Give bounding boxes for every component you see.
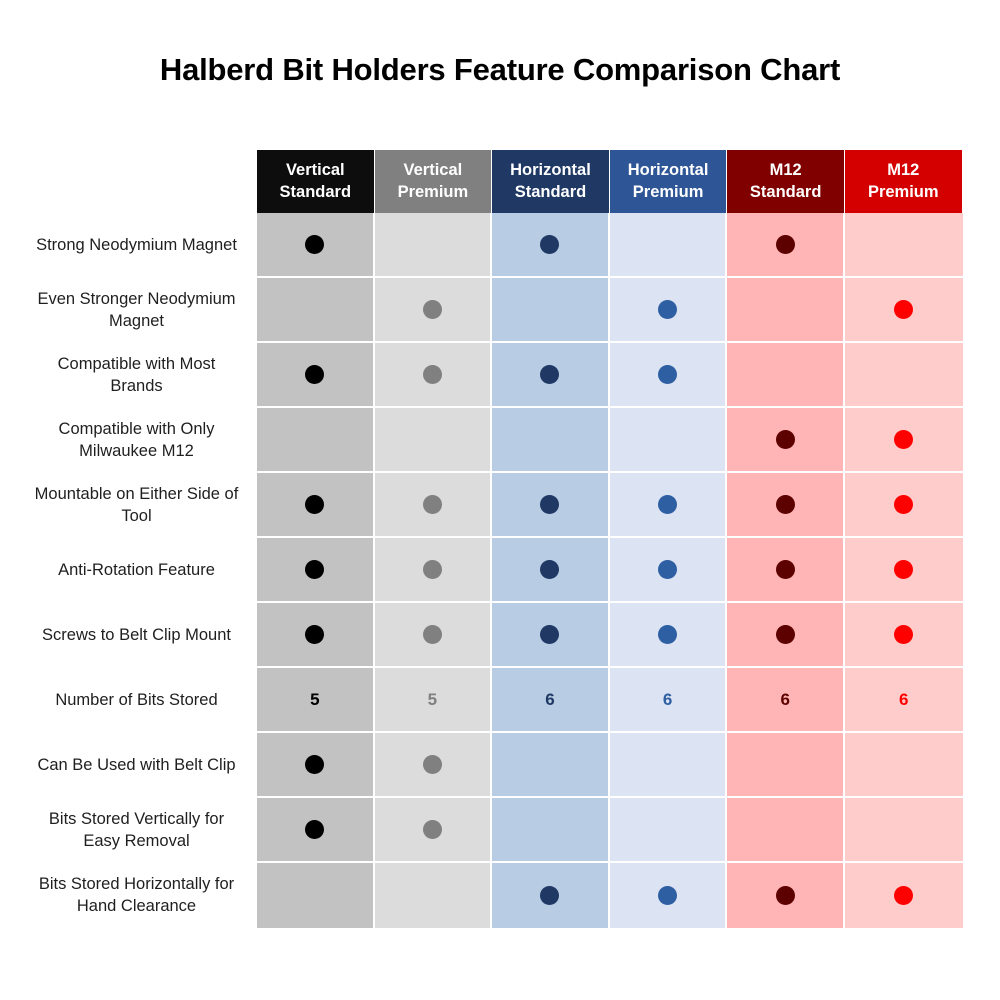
cell-number-of-bits-stored-vertical-standard[interactable]: 5: [257, 668, 375, 733]
row-label-mountable-on-either-side-of-tool: Mountable on Either Side of Tool: [30, 473, 257, 538]
feature-supported-dot-icon: [776, 235, 795, 254]
cell-strong-neodymium-magnet-horizontal-standard[interactable]: [492, 213, 610, 278]
cell-compatible-with-only-milwaukee-m12-horizontal-standard[interactable]: [492, 408, 610, 473]
feature-supported-dot-icon: [658, 560, 677, 579]
column-header-m12-standard[interactable]: M12Standard: [727, 150, 845, 213]
cell-bits-stored-vertically-for-easy-removal-horizontal-premium[interactable]: [610, 798, 728, 863]
feature-supported-dot-icon: [658, 365, 677, 384]
cell-mountable-on-either-side-of-tool-horizontal-premium[interactable]: [610, 473, 728, 538]
cell-bits-stored-horizontally-for-hand-clearance-vertical-standard[interactable]: [257, 863, 375, 928]
column-header-line1: M12: [770, 160, 802, 182]
feature-supported-dot-icon: [305, 365, 324, 384]
cell-bits-stored-vertically-for-easy-removal-horizontal-standard[interactable]: [492, 798, 610, 863]
feature-supported-dot-icon: [305, 820, 324, 839]
feature-supported-dot-icon: [423, 820, 442, 839]
cell-screws-to-belt-clip-mount-vertical-standard[interactable]: [257, 603, 375, 668]
cell-bits-stored-horizontally-for-hand-clearance-m12-premium[interactable]: [845, 863, 963, 928]
row-label-even-stronger-neodymium-magnet: Even Stronger Neodymium Magnet: [30, 278, 257, 343]
cell-can-be-used-with-belt-clip-m12-standard[interactable]: [727, 733, 845, 798]
cell-screws-to-belt-clip-mount-m12-standard[interactable]: [727, 603, 845, 668]
cell-bits-stored-horizontally-for-hand-clearance-horizontal-premium[interactable]: [610, 863, 728, 928]
feature-supported-dot-icon: [776, 560, 795, 579]
row-label-can-be-used-with-belt-clip: Can Be Used with Belt Clip: [30, 733, 257, 798]
feature-supported-dot-icon: [894, 886, 913, 905]
feature-supported-dot-icon: [894, 495, 913, 514]
cell-number-of-bits-stored-horizontal-standard[interactable]: 6: [492, 668, 610, 733]
cell-compatible-with-only-milwaukee-m12-vertical-premium[interactable]: [375, 408, 493, 473]
feature-supported-dot-icon: [423, 625, 442, 644]
column-header-line2: Premium: [633, 182, 704, 204]
column-header-line2: Standard: [750, 182, 822, 204]
row-label-text: Can Be Used with Belt Clip: [30, 755, 243, 776]
row-label-bits-stored-vertically-for-easy-removal: Bits Stored Vertically for Easy Removal: [30, 798, 257, 863]
feature-supported-dot-icon: [540, 560, 559, 579]
feature-supported-dot-icon: [776, 430, 795, 449]
cell-value: 5: [310, 691, 319, 708]
cell-strong-neodymium-magnet-m12-premium[interactable]: [845, 213, 963, 278]
row-label-bits-stored-horizontally-for-hand-clearance: Bits Stored Horizontally for Hand Cleara…: [30, 863, 257, 928]
cell-anti-rotation-feature-m12-premium[interactable]: [845, 538, 963, 603]
row-label-screws-to-belt-clip-mount: Screws to Belt Clip Mount: [30, 603, 257, 668]
row-label-compatible-with-only-milwaukee-m12: Compatible with Only Milwaukee M12: [30, 408, 257, 473]
row-label-compatible-with-most-brands: Compatible with Most Brands: [30, 343, 257, 408]
feature-supported-dot-icon: [658, 495, 677, 514]
feature-supported-dot-icon: [423, 300, 442, 319]
cell-number-of-bits-stored-vertical-premium[interactable]: 5: [375, 668, 493, 733]
column-header-vertical-standard[interactable]: VerticalStandard: [257, 150, 375, 213]
column-header-line1: Horizontal: [628, 160, 709, 182]
feature-supported-dot-icon: [305, 495, 324, 514]
cell-mountable-on-either-side-of-tool-vertical-standard[interactable]: [257, 473, 375, 538]
cell-screws-to-belt-clip-mount-m12-premium[interactable]: [845, 603, 963, 668]
table-corner-cell: [30, 150, 257, 213]
cell-compatible-with-most-brands-horizontal-standard[interactable]: [492, 343, 610, 408]
cell-compatible-with-only-milwaukee-m12-vertical-standard[interactable]: [257, 408, 375, 473]
cell-can-be-used-with-belt-clip-horizontal-standard[interactable]: [492, 733, 610, 798]
row-label-text: Compatible with Only Milwaukee M12: [30, 419, 243, 461]
feature-supported-dot-icon: [305, 755, 324, 774]
cell-strong-neodymium-magnet-vertical-premium[interactable]: [375, 213, 493, 278]
column-header-vertical-premium[interactable]: VerticalPremium: [375, 150, 493, 213]
cell-compatible-with-most-brands-m12-premium[interactable]: [845, 343, 963, 408]
column-header-horizontal-premium[interactable]: HorizontalPremium: [610, 150, 728, 213]
cell-value: 5: [428, 691, 437, 708]
feature-supported-dot-icon: [540, 235, 559, 254]
column-header-line1: Horizontal: [510, 160, 591, 182]
cell-compatible-with-only-milwaukee-m12-horizontal-premium[interactable]: [610, 408, 728, 473]
cell-even-stronger-neodymium-magnet-m12-standard[interactable]: [727, 278, 845, 343]
column-header-line2: Premium: [868, 182, 939, 204]
cell-mountable-on-either-side-of-tool-m12-standard[interactable]: [727, 473, 845, 538]
cell-can-be-used-with-belt-clip-horizontal-premium[interactable]: [610, 733, 728, 798]
cell-number-of-bits-stored-m12-premium[interactable]: 6: [845, 668, 963, 733]
cell-screws-to-belt-clip-mount-vertical-premium[interactable]: [375, 603, 493, 668]
cell-even-stronger-neodymium-magnet-vertical-standard[interactable]: [257, 278, 375, 343]
cell-value: 6: [780, 691, 789, 708]
cell-value: 6: [545, 691, 554, 708]
row-label-number-of-bits-stored: Number of Bits Stored: [30, 668, 257, 733]
row-label-text: Screws to Belt Clip Mount: [30, 625, 243, 646]
column-header-line2: Standard: [515, 182, 587, 204]
feature-supported-dot-icon: [305, 560, 324, 579]
cell-strong-neodymium-magnet-vertical-standard[interactable]: [257, 213, 375, 278]
cell-bits-stored-horizontally-for-hand-clearance-m12-standard[interactable]: [727, 863, 845, 928]
row-label-text: Compatible with Most Brands: [30, 354, 243, 396]
cell-even-stronger-neodymium-magnet-vertical-premium[interactable]: [375, 278, 493, 343]
comparison-chart-page: Halberd Bit Holders Feature Comparison C…: [0, 0, 1000, 1000]
feature-supported-dot-icon: [776, 495, 795, 514]
cell-anti-rotation-feature-vertical-premium[interactable]: [375, 538, 493, 603]
cell-anti-rotation-feature-horizontal-standard[interactable]: [492, 538, 610, 603]
cell-compatible-with-most-brands-vertical-standard[interactable]: [257, 343, 375, 408]
cell-mountable-on-either-side-of-tool-horizontal-standard[interactable]: [492, 473, 610, 538]
column-header-m12-premium[interactable]: M12Premium: [845, 150, 963, 213]
page-title: Halberd Bit Holders Feature Comparison C…: [0, 52, 1000, 88]
cell-can-be-used-with-belt-clip-m12-premium[interactable]: [845, 733, 963, 798]
cell-anti-rotation-feature-horizontal-premium[interactable]: [610, 538, 728, 603]
row-label-text: Bits Stored Horizontally for Hand Cleara…: [30, 874, 243, 916]
feature-supported-dot-icon: [894, 300, 913, 319]
cell-compatible-with-most-brands-horizontal-premium[interactable]: [610, 343, 728, 408]
cell-strong-neodymium-magnet-m12-standard[interactable]: [727, 213, 845, 278]
column-header-horizontal-standard[interactable]: HorizontalStandard: [492, 150, 610, 213]
cell-compatible-with-most-brands-m12-standard[interactable]: [727, 343, 845, 408]
row-label-text: Strong Neodymium Magnet: [30, 235, 243, 256]
column-header-line1: Vertical: [404, 160, 463, 182]
feature-supported-dot-icon: [776, 886, 795, 905]
row-label-strong-neodymium-magnet: Strong Neodymium Magnet: [30, 213, 257, 278]
cell-even-stronger-neodymium-magnet-m12-premium[interactable]: [845, 278, 963, 343]
feature-supported-dot-icon: [894, 560, 913, 579]
feature-supported-dot-icon: [423, 755, 442, 774]
feature-supported-dot-icon: [540, 495, 559, 514]
cell-even-stronger-neodymium-magnet-horizontal-premium[interactable]: [610, 278, 728, 343]
cell-mountable-on-either-side-of-tool-m12-premium[interactable]: [845, 473, 963, 538]
feature-supported-dot-icon: [423, 495, 442, 514]
feature-supported-dot-icon: [894, 430, 913, 449]
column-header-line2: Standard: [280, 182, 352, 204]
column-header-line1: M12: [887, 160, 919, 182]
feature-supported-dot-icon: [894, 625, 913, 644]
cell-screws-to-belt-clip-mount-horizontal-standard[interactable]: [492, 603, 610, 668]
cell-strong-neodymium-magnet-horizontal-premium[interactable]: [610, 213, 728, 278]
row-label-text: Bits Stored Vertically for Easy Removal: [30, 809, 243, 851]
cell-compatible-with-only-milwaukee-m12-m12-standard[interactable]: [727, 408, 845, 473]
row-label-text: Anti-Rotation Feature: [30, 560, 243, 581]
cell-compatible-with-most-brands-vertical-premium[interactable]: [375, 343, 493, 408]
cell-bits-stored-horizontally-for-hand-clearance-vertical-premium[interactable]: [375, 863, 493, 928]
row-label-text: Even Stronger Neodymium Magnet: [30, 289, 243, 331]
feature-supported-dot-icon: [540, 625, 559, 644]
cell-can-be-used-with-belt-clip-vertical-premium[interactable]: [375, 733, 493, 798]
feature-supported-dot-icon: [423, 365, 442, 384]
row-label-anti-rotation-feature: Anti-Rotation Feature: [30, 538, 257, 603]
cell-bits-stored-vertically-for-easy-removal-m12-premium[interactable]: [845, 798, 963, 863]
cell-screws-to-belt-clip-mount-horizontal-premium[interactable]: [610, 603, 728, 668]
cell-value: 6: [663, 691, 672, 708]
cell-value: 6: [899, 691, 908, 708]
cell-bits-stored-vertically-for-easy-removal-m12-standard[interactable]: [727, 798, 845, 863]
cell-bits-stored-vertically-for-easy-removal-vertical-premium[interactable]: [375, 798, 493, 863]
cell-number-of-bits-stored-m12-standard[interactable]: 6: [727, 668, 845, 733]
feature-comparison-table: VerticalStandardVerticalPremiumHorizonta…: [30, 150, 963, 928]
cell-compatible-with-only-milwaukee-m12-m12-premium[interactable]: [845, 408, 963, 473]
cell-bits-stored-horizontally-for-hand-clearance-horizontal-standard[interactable]: [492, 863, 610, 928]
cell-can-be-used-with-belt-clip-vertical-standard[interactable]: [257, 733, 375, 798]
cell-anti-rotation-feature-vertical-standard[interactable]: [257, 538, 375, 603]
feature-supported-dot-icon: [776, 625, 795, 644]
row-label-text: Number of Bits Stored: [30, 690, 243, 711]
feature-supported-dot-icon: [658, 886, 677, 905]
feature-supported-dot-icon: [658, 625, 677, 644]
feature-supported-dot-icon: [540, 365, 559, 384]
feature-supported-dot-icon: [305, 235, 324, 254]
cell-anti-rotation-feature-m12-standard[interactable]: [727, 538, 845, 603]
cell-bits-stored-vertically-for-easy-removal-vertical-standard[interactable]: [257, 798, 375, 863]
column-header-line2: Premium: [398, 182, 469, 204]
column-header-line1: Vertical: [286, 160, 345, 182]
cell-number-of-bits-stored-horizontal-premium[interactable]: 6: [610, 668, 728, 733]
feature-supported-dot-icon: [423, 560, 442, 579]
cell-mountable-on-either-side-of-tool-vertical-premium[interactable]: [375, 473, 493, 538]
row-label-text: Mountable on Either Side of Tool: [30, 484, 243, 526]
cell-even-stronger-neodymium-magnet-horizontal-standard[interactable]: [492, 278, 610, 343]
feature-supported-dot-icon: [658, 300, 677, 319]
feature-supported-dot-icon: [305, 625, 324, 644]
feature-supported-dot-icon: [540, 886, 559, 905]
